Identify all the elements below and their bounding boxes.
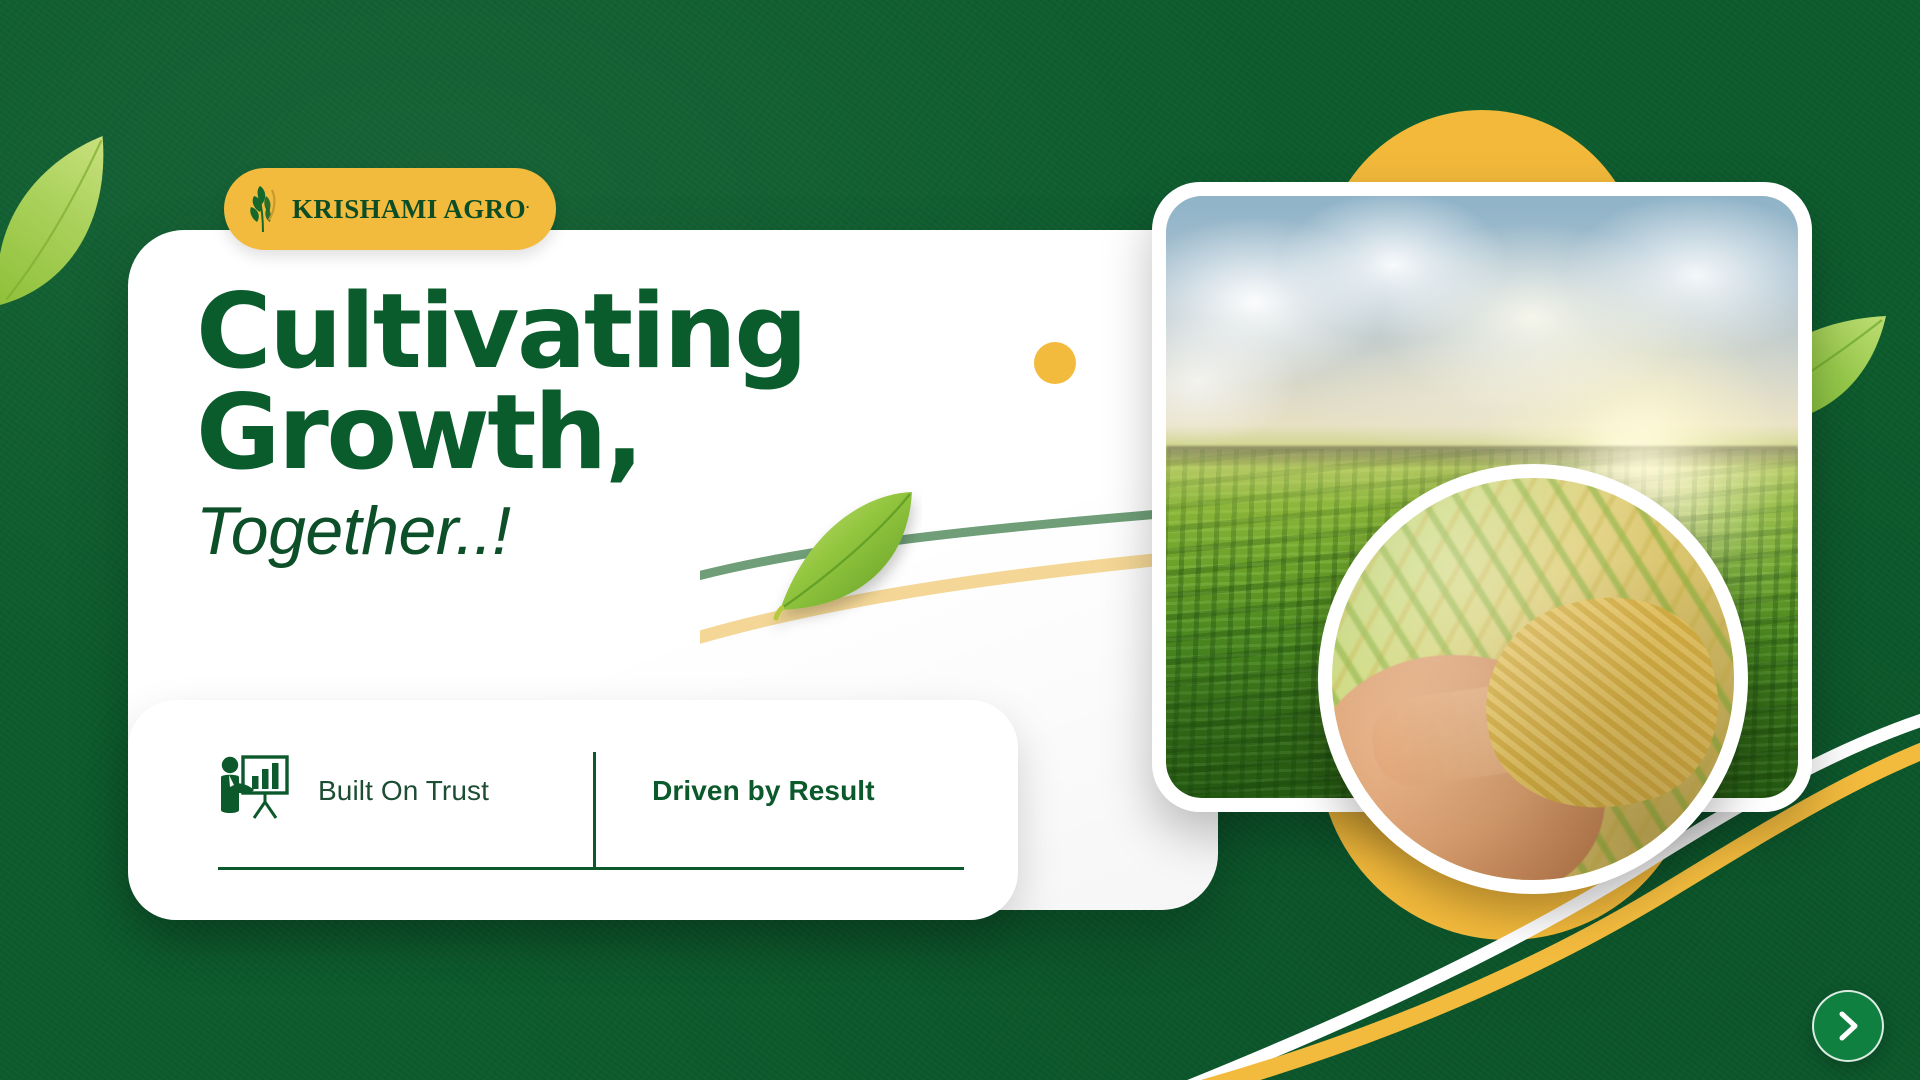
stat-label: Built On Trust [318, 775, 489, 807]
leaf-svg [762, 478, 922, 638]
hand-photo [1332, 478, 1734, 880]
stats-bar: Built On Trust Driven by Result [128, 700, 1018, 920]
stat-label: Driven by Result [652, 775, 875, 807]
leaf-svg [0, 128, 168, 318]
headline-line-2: Growth, [196, 383, 1016, 484]
wheat-svg [242, 180, 282, 234]
brand-name: KRISHAMI AGRO. [292, 194, 530, 225]
presenter-chart-svg [218, 752, 292, 824]
photo-shading [1332, 478, 1734, 880]
stat-item-driven-by-result[interactable]: Driven by Result [593, 752, 964, 870]
leaf-icon-headline [762, 478, 922, 638]
stat-item-built-on-trust[interactable]: Built On Trust [218, 752, 593, 870]
chevron-right-icon [1833, 1009, 1863, 1043]
presenter-chart-icon [218, 752, 292, 829]
headline-line-1: Cultivating [196, 282, 1016, 383]
leaf-icon-top-left [0, 128, 168, 318]
brand-logo-pill[interactable]: KRISHAMI AGRO. [224, 168, 556, 250]
next-slide-button[interactable] [1812, 990, 1884, 1062]
wheat-icon [242, 180, 282, 239]
slide-canvas: KRISHAMI AGRO. Cultivating Growth, Toget… [0, 0, 1920, 1080]
yellow-dot-accent [1034, 342, 1076, 384]
brand-trademark: . [526, 196, 530, 211]
stats-row: Built On Trust Driven by Result [218, 752, 964, 870]
hand-photo-circle[interactable] [1318, 464, 1748, 894]
